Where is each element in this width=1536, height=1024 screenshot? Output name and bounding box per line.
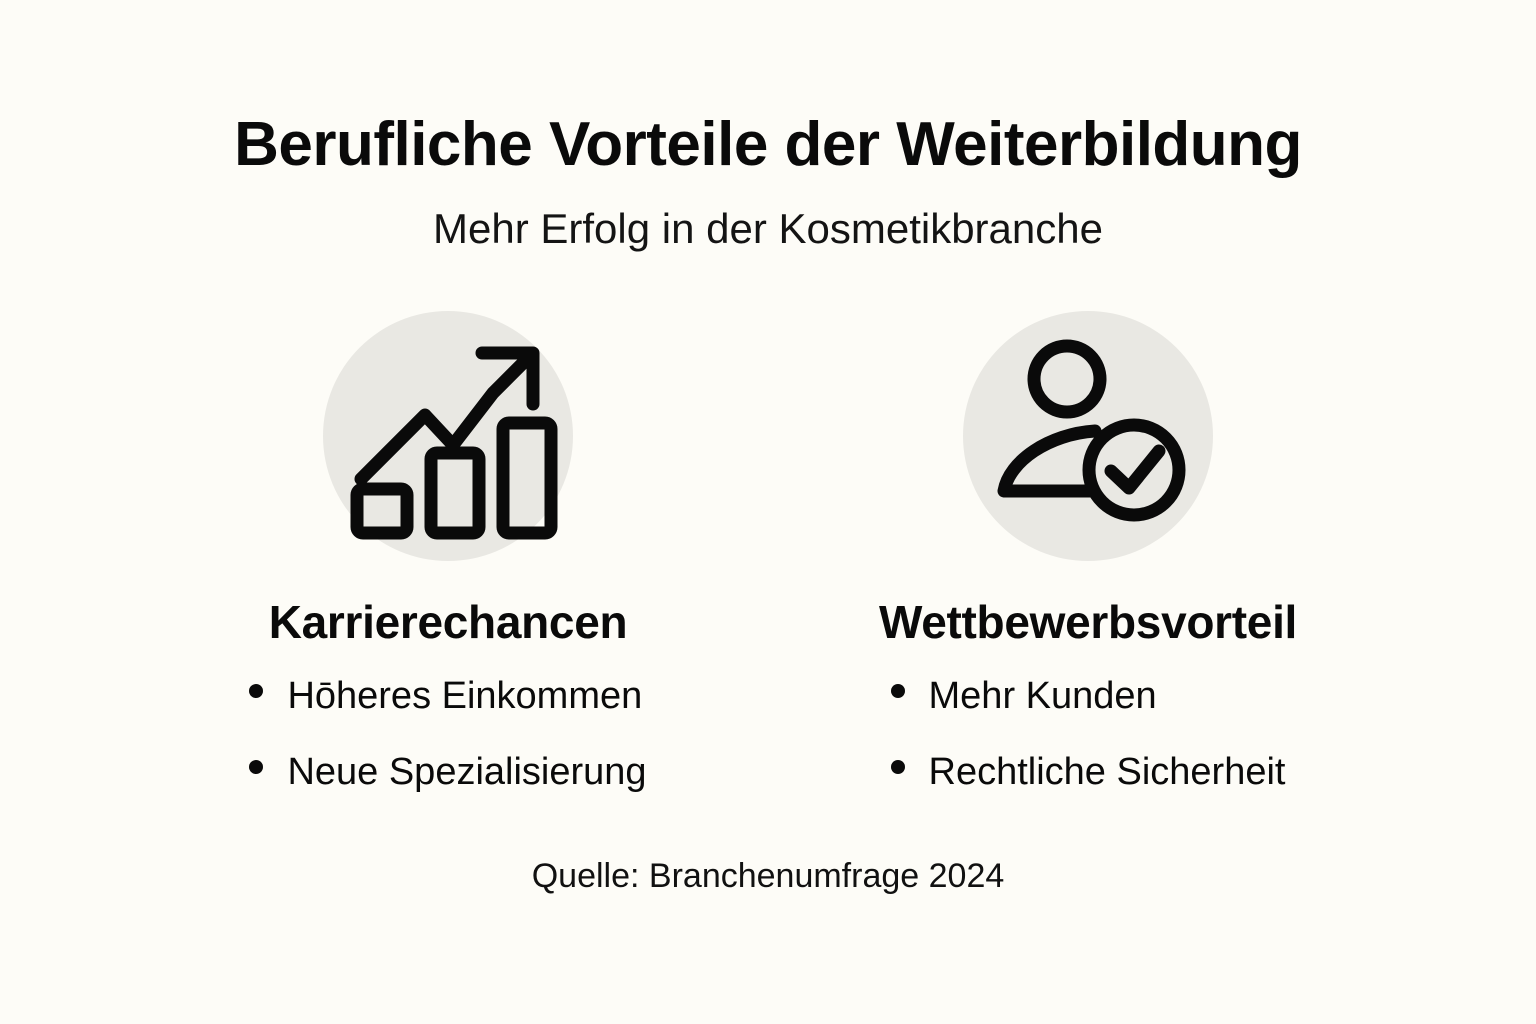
bullet-dot-icon	[891, 684, 905, 698]
benefit-columns: Karrierechancen Hōheres Einkommen Neue S…	[168, 311, 1368, 791]
benefit-heading-competition: Wettbewerbsvorteil	[879, 595, 1297, 649]
person-check-badge-icon	[983, 331, 1193, 541]
bullet-dot-icon	[891, 760, 905, 774]
benefit-list-career: Hōheres Einkommen Neue Spezialisierung	[249, 677, 646, 791]
benefit-column-career: Karrierechancen Hōheres Einkommen Neue S…	[188, 311, 708, 791]
bullet-dot-icon	[249, 684, 263, 698]
benefit-heading-career: Karrierechancen	[269, 595, 628, 649]
icon-badge-career	[323, 311, 573, 561]
bullet-dot-icon	[249, 760, 263, 774]
list-item-label: Neue Spezialisierung	[287, 753, 646, 791]
infographic-poster: Berufliche Vorteile der Weiterbildung Me…	[0, 0, 1536, 1024]
list-item: Neue Spezialisierung	[249, 753, 646, 791]
growth-bar-chart-arrow-icon	[343, 331, 553, 541]
list-item: Hōheres Einkommen	[249, 677, 642, 715]
list-item-label: Rechtliche Sicherheit	[929, 753, 1286, 791]
benefit-column-competition: Wettbewerbsvorteil Mehr Kunden Rechtlich…	[828, 311, 1348, 791]
list-item: Mehr Kunden	[891, 677, 1157, 715]
page-title: Berufliche Vorteile der Weiterbildung	[0, 112, 1536, 177]
benefit-list-competition: Mehr Kunden Rechtliche Sicherheit	[891, 677, 1286, 791]
source-note: Quelle: Branchenumfrage 2024	[532, 857, 1005, 896]
page-subtitle: Mehr Erfolg in der Kosmetikbranche	[0, 207, 1536, 251]
list-item-label: Mehr Kunden	[929, 677, 1157, 715]
list-item-label: Hōheres Einkommen	[287, 677, 642, 715]
icon-badge-competition	[963, 311, 1213, 561]
poster-header: Berufliche Vorteile der Weiterbildung Me…	[0, 112, 1536, 251]
list-item: Rechtliche Sicherheit	[891, 753, 1286, 791]
